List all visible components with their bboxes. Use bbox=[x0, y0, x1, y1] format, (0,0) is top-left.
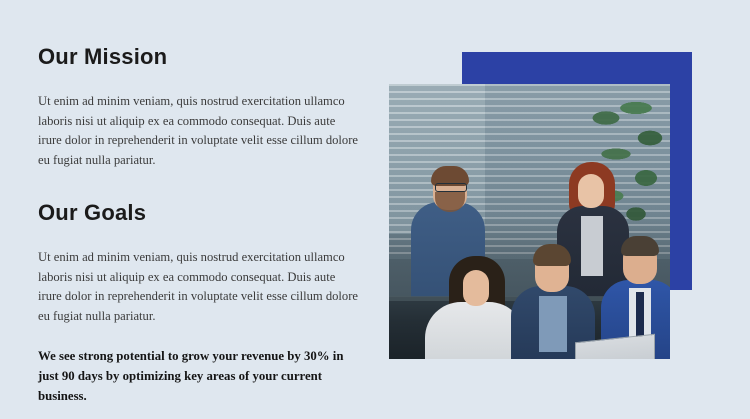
mission-paragraph: Ut enim ad minim veniam, quis nostrud ex… bbox=[38, 92, 360, 170]
person-standing-right-face bbox=[578, 174, 604, 208]
person-standing-right-shirt bbox=[581, 216, 603, 276]
team-meeting-photo bbox=[389, 84, 670, 359]
person-seated-right-hair bbox=[621, 236, 659, 256]
goals-heading: Our Goals bbox=[38, 200, 368, 226]
person-seated-left-face bbox=[463, 270, 489, 306]
slide-canvas: Our Mission Ut enim ad minim veniam, qui… bbox=[0, 0, 750, 419]
person-seated-center-hair bbox=[533, 244, 571, 266]
text-column: Our Mission Ut enim ad minim veniam, qui… bbox=[38, 44, 368, 406]
goals-paragraph: Ut enim ad minim veniam, quis nostrud ex… bbox=[38, 248, 360, 326]
photo-composition bbox=[389, 84, 670, 359]
person-seated-center-shirt bbox=[539, 296, 567, 352]
mission-heading: Our Mission bbox=[38, 44, 368, 70]
person-seated-right-tie bbox=[636, 292, 644, 338]
person-seated-left-body bbox=[425, 302, 525, 359]
glasses-icon bbox=[435, 183, 467, 192]
goals-highlight: We see strong potential to grow your rev… bbox=[38, 346, 348, 406]
